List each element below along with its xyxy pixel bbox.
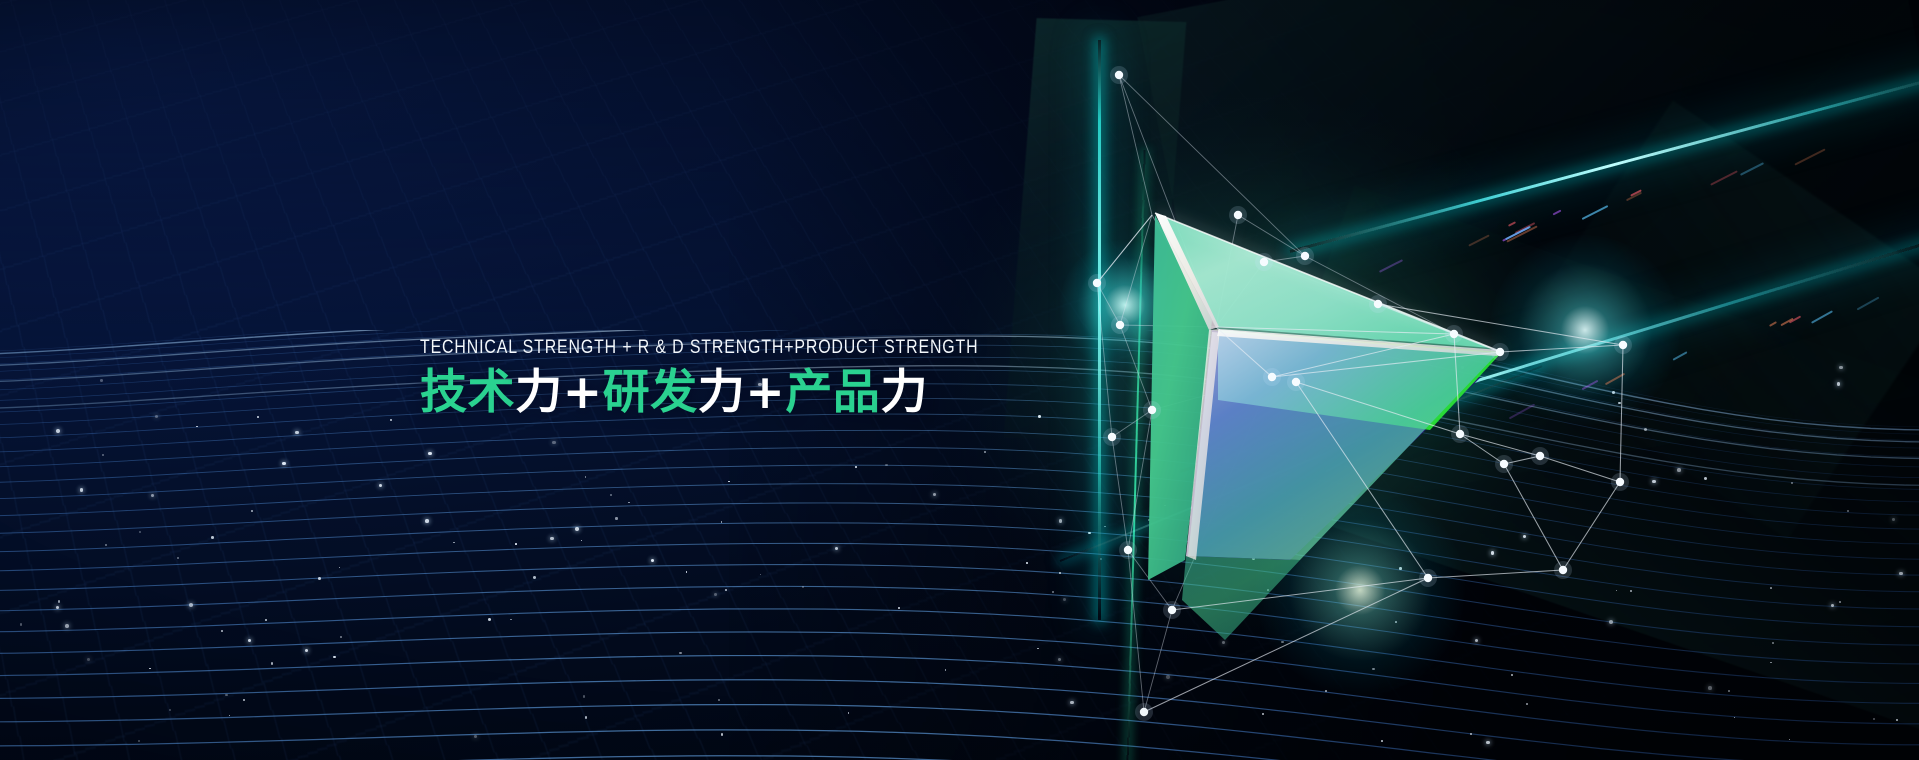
hero-headline: 技术力+研发力+产品力 <box>420 365 1105 420</box>
wireframe-node <box>1255 253 1273 271</box>
wireframe-node <box>1445 325 1463 343</box>
hero-text-block: TECHNICAL STRENGTH + R & D STRENGTH+PROD… <box>420 336 1105 421</box>
wireframe-node <box>1263 368 1281 386</box>
wireframe-node <box>1296 247 1314 265</box>
wireframe-node <box>1491 343 1509 361</box>
headline-segment-4: 产品 <box>785 365 880 420</box>
hero-eyebrow: TECHNICAL STRENGTH + R & D STRENGTH+PROD… <box>420 336 978 358</box>
wireframe-node <box>1110 66 1128 84</box>
wireframe-node <box>1611 473 1629 491</box>
hero-banner: TECHNICAL STRENGTH + R & D STRENGTH+PROD… <box>0 0 1919 760</box>
wireframe-node <box>1143 401 1161 419</box>
wireframe-edge <box>1563 482 1620 570</box>
wireframe-node <box>1119 541 1137 559</box>
headline-segment-1: 力+ <box>515 365 603 420</box>
wireframe-node <box>1451 425 1469 443</box>
headline-segment-5: 力 <box>880 365 928 420</box>
wireframe-node <box>1531 447 1549 465</box>
wireframe-node <box>1287 373 1305 391</box>
wireframe-node <box>1163 601 1181 619</box>
wireframe-edge <box>1620 345 1623 482</box>
headline-segment-3: 力+ <box>698 365 786 420</box>
wireframe-node <box>1614 336 1632 354</box>
wireframe-node <box>1103 428 1121 446</box>
wireframe-node <box>1229 206 1247 224</box>
headline-segment-2: 研发 <box>603 365 698 420</box>
wireframe-node <box>1135 703 1153 721</box>
wireframe-node <box>1369 295 1387 313</box>
wireframe-node <box>1495 455 1513 473</box>
wireframe-node <box>1111 316 1129 334</box>
wireframe-node <box>1419 569 1437 587</box>
wireframe-node <box>1088 274 1106 292</box>
headline-segment-0: 技术 <box>420 365 515 420</box>
wireframe-node <box>1554 561 1572 579</box>
